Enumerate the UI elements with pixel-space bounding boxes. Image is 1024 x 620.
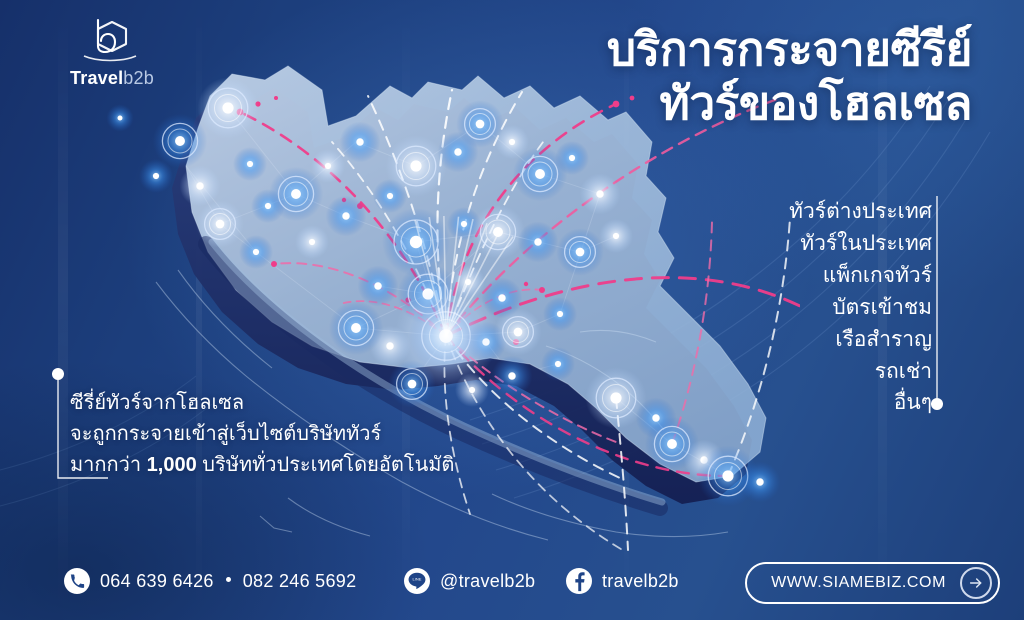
map-node: [494, 308, 542, 356]
line-icon: LINE: [404, 568, 430, 594]
phone-separator-dot: [226, 577, 231, 582]
map-node: [329, 301, 383, 355]
brand-name-secondary: b2b: [123, 68, 154, 88]
brand-logo[interactable]: Travelb2b: [52, 16, 172, 88]
map-node: [471, 205, 525, 259]
footer-bar: 064 639 6426 082 246 5692 LINE @travelb2…: [0, 546, 1024, 620]
map-node: [340, 122, 381, 163]
poster-canvas: Travelb2b บริการกระจายซีรีย์ ทัวร์ของโฮล…: [0, 0, 1024, 620]
map-node: [541, 347, 575, 381]
map-node: [311, 149, 345, 183]
map-node: [180, 166, 221, 207]
website-label: WWW.SIAMEBIZ.COM: [771, 574, 946, 592]
svg-text:LINE: LINE: [413, 577, 422, 582]
map-node: [599, 219, 633, 253]
map-node: [543, 297, 577, 331]
service-item-1: ทัวร์ในประเทศ: [789, 228, 932, 260]
map-node: [385, 135, 446, 196]
phone-number-2: 082 246 5692: [243, 571, 357, 592]
service-item-4: เรือสำราญ: [789, 324, 932, 356]
map-node: [518, 222, 559, 263]
website-button[interactable]: WWW.SIAMEBIZ.COM: [745, 562, 1000, 604]
facebook-contact[interactable]: travelb2b: [566, 568, 679, 594]
map-node: [492, 356, 533, 397]
map-node: [555, 141, 589, 175]
caption-line-3-post: บริษัททั่วประเทศโดยอัตโนมัติ: [197, 454, 455, 476]
map-node: [326, 196, 367, 237]
map-node: [197, 77, 258, 138]
caption-line-1: ซีรี่ย์ทัวร์จากโฮลเซล: [70, 388, 454, 419]
page-title: บริการกระจายซีรีย์ ทัวร์ของโฮลเซล: [607, 22, 972, 131]
facebook-id: travelb2b: [602, 571, 679, 592]
service-list: ทัวร์ต่างประเทศ ทัวร์ในประเทศ แพ็กเกจทัว…: [789, 196, 932, 419]
line-contact[interactable]: LINE @travelb2b: [404, 568, 535, 594]
map-node: [196, 200, 244, 248]
headline-line-1: บริการกระจายซีรีย์: [607, 22, 972, 76]
service-item-0: ทัวร์ต่างประเทศ: [789, 196, 932, 228]
map-node: [233, 147, 267, 181]
service-item-3: บัตรเข้าชม: [789, 292, 932, 324]
caption-line-2: จะถูกกระจายเข้าสู่เว็บไซต์บริษัททัวร์: [70, 419, 454, 450]
phone-icon: [64, 568, 90, 594]
map-node: [580, 174, 621, 215]
service-item-5: รถเช่า: [789, 356, 932, 388]
hexagon-b-logo-icon: [82, 16, 138, 62]
line-id: @travelb2b: [440, 571, 535, 592]
map-node: [239, 235, 273, 269]
headline-line-2: ทัวร์ของโฮลเซล: [607, 76, 972, 130]
brand-name-primary: Travel: [70, 68, 123, 88]
arrow-right-icon: [960, 567, 992, 599]
brand-wordmark: Travelb2b: [52, 68, 172, 89]
facebook-icon: [566, 568, 592, 594]
map-node: [295, 225, 329, 259]
map-node: [740, 462, 781, 503]
phone-contact[interactable]: 064 639 6426 082 246 5692: [64, 568, 356, 594]
phone-number-1: 064 639 6426: [100, 571, 214, 592]
map-node: [358, 266, 399, 307]
caption-block: ซีรี่ย์ทัวร์จากโฮลเซล จะถูกกระจายเข้าสู่…: [70, 388, 454, 482]
caption-company-count: 1,000: [147, 454, 197, 476]
service-item-6: อื่นๆ: [789, 387, 932, 419]
service-list-rule: [930, 196, 944, 412]
caption-line-3: มากกว่า 1,000 บริษัททั่วประเทศโดยอัตโนมั…: [70, 450, 454, 481]
service-item-2: แพ็กเกจทัวร์: [789, 260, 932, 292]
map-node: [556, 228, 604, 276]
map-node: [139, 159, 173, 193]
map-node: [106, 104, 133, 131]
caption-line-3-pre: มากกว่า: [70, 454, 147, 476]
